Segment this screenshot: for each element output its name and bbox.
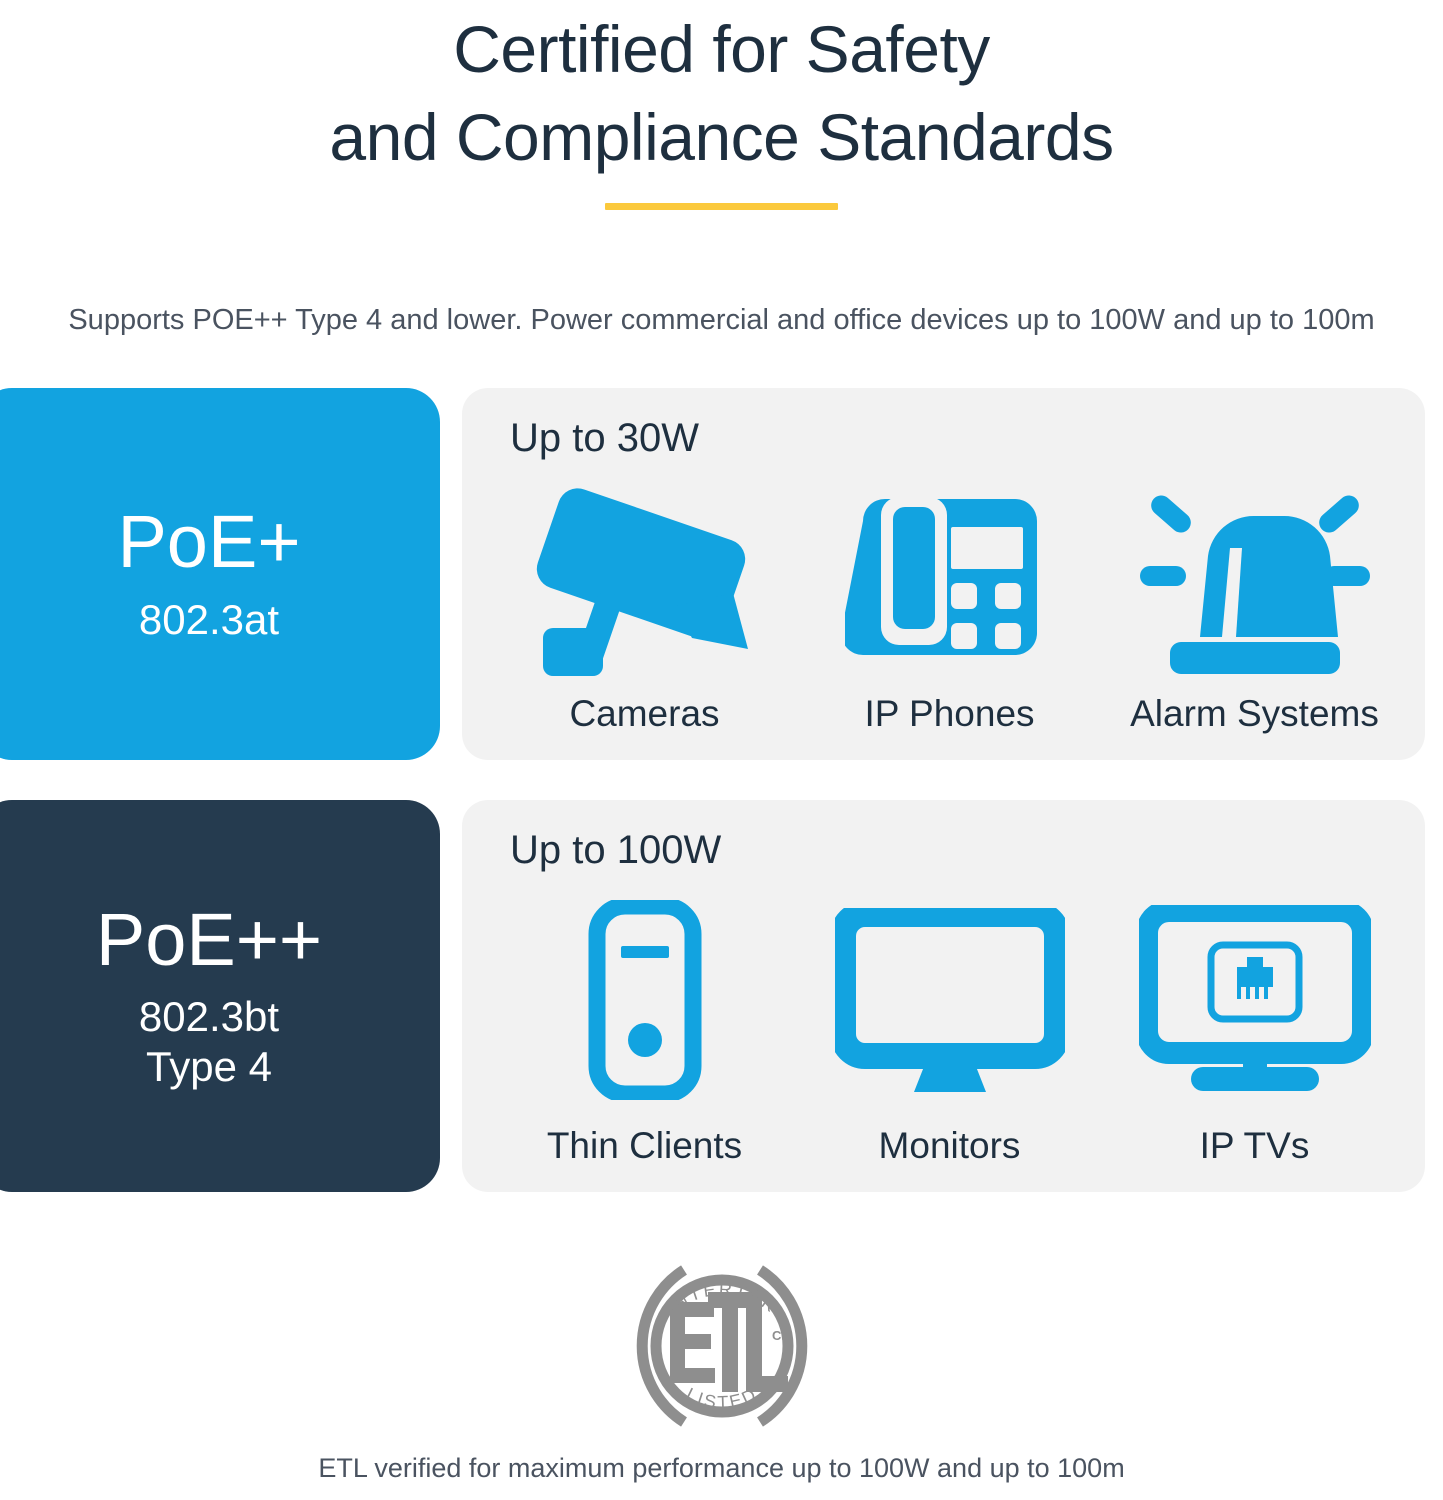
footnote-text: ETL verified for maximum performance up … — [0, 1452, 1443, 1484]
poe-plus-device-panel: Up to 30W Cameras — [462, 388, 1425, 760]
thin-client-tower-icon — [492, 886, 797, 1114]
device-item-cameras: Cameras — [492, 474, 797, 736]
etl-superscript-text: CM — [772, 1328, 792, 1343]
device-label-cameras: Cameras — [569, 692, 719, 736]
ip-phone-icon — [797, 474, 1102, 682]
security-camera-icon — [492, 474, 797, 682]
page-title-line-1: Certified for Safety — [0, 6, 1443, 94]
device-label-ip-tvs: IP TVs — [1200, 1124, 1310, 1168]
ip-tv-icon — [1102, 886, 1407, 1114]
infographic-page: Certified for Safety and Compliance Stan… — [0, 0, 1443, 1500]
device-item-alarm-systems: Alarm Systems — [1102, 474, 1407, 736]
poe-plus-standard-label: PoE+ — [117, 503, 300, 581]
monitor-icon — [797, 886, 1102, 1114]
device-label-ip-phones: IP Phones — [864, 692, 1034, 736]
poe-plusplus-type-label: Type 4 — [146, 1042, 272, 1092]
poe-plus-badge: PoE+ 802.3at — [0, 388, 440, 760]
etl-listed-mark: CM INTERTEK LISTED — [0, 1248, 1443, 1444]
device-label-monitors: Monitors — [879, 1124, 1021, 1168]
alarm-siren-icon — [1102, 474, 1407, 682]
title-underline-accent — [605, 203, 838, 210]
poe-plusplus-spec-label: 802.3bt — [139, 992, 279, 1042]
subtitle-text: Supports POE++ Type 4 and lower. Power c… — [0, 303, 1443, 338]
poe-plus-device-list: Cameras — [492, 474, 1407, 736]
page-title-line-2: and Compliance Standards — [0, 94, 1443, 182]
poe-plusplus-device-list: Thin Clients Monitors — [492, 886, 1407, 1168]
poe-plus-spec-label: 802.3at — [139, 595, 279, 645]
device-item-thin-clients: Thin Clients — [492, 886, 797, 1168]
device-item-monitors: Monitors — [797, 886, 1102, 1168]
device-label-alarm-systems: Alarm Systems — [1130, 692, 1379, 736]
poe-plusplus-standard-label: PoE++ — [96, 901, 322, 979]
device-label-thin-clients: Thin Clients — [547, 1124, 742, 1168]
device-item-ip-tvs: IP TVs — [1102, 886, 1407, 1168]
poe-plusplus-row: PoE++ 802.3bt Type 4 Up to 100W Thin Cli… — [0, 800, 1443, 1192]
poe-plus-row: PoE+ 802.3at Up to 30W — [0, 388, 1443, 760]
page-header: Certified for Safety and Compliance Stan… — [0, 0, 1443, 210]
poe-plusplus-badge: PoE++ 802.3bt Type 4 — [0, 800, 440, 1192]
poe-plus-wattage-heading: Up to 30W — [510, 414, 699, 462]
poe-plusplus-device-panel: Up to 100W Thin Clients — [462, 800, 1425, 1192]
poe-plusplus-wattage-heading: Up to 100W — [510, 826, 721, 874]
device-item-ip-phones: IP Phones — [797, 474, 1102, 736]
